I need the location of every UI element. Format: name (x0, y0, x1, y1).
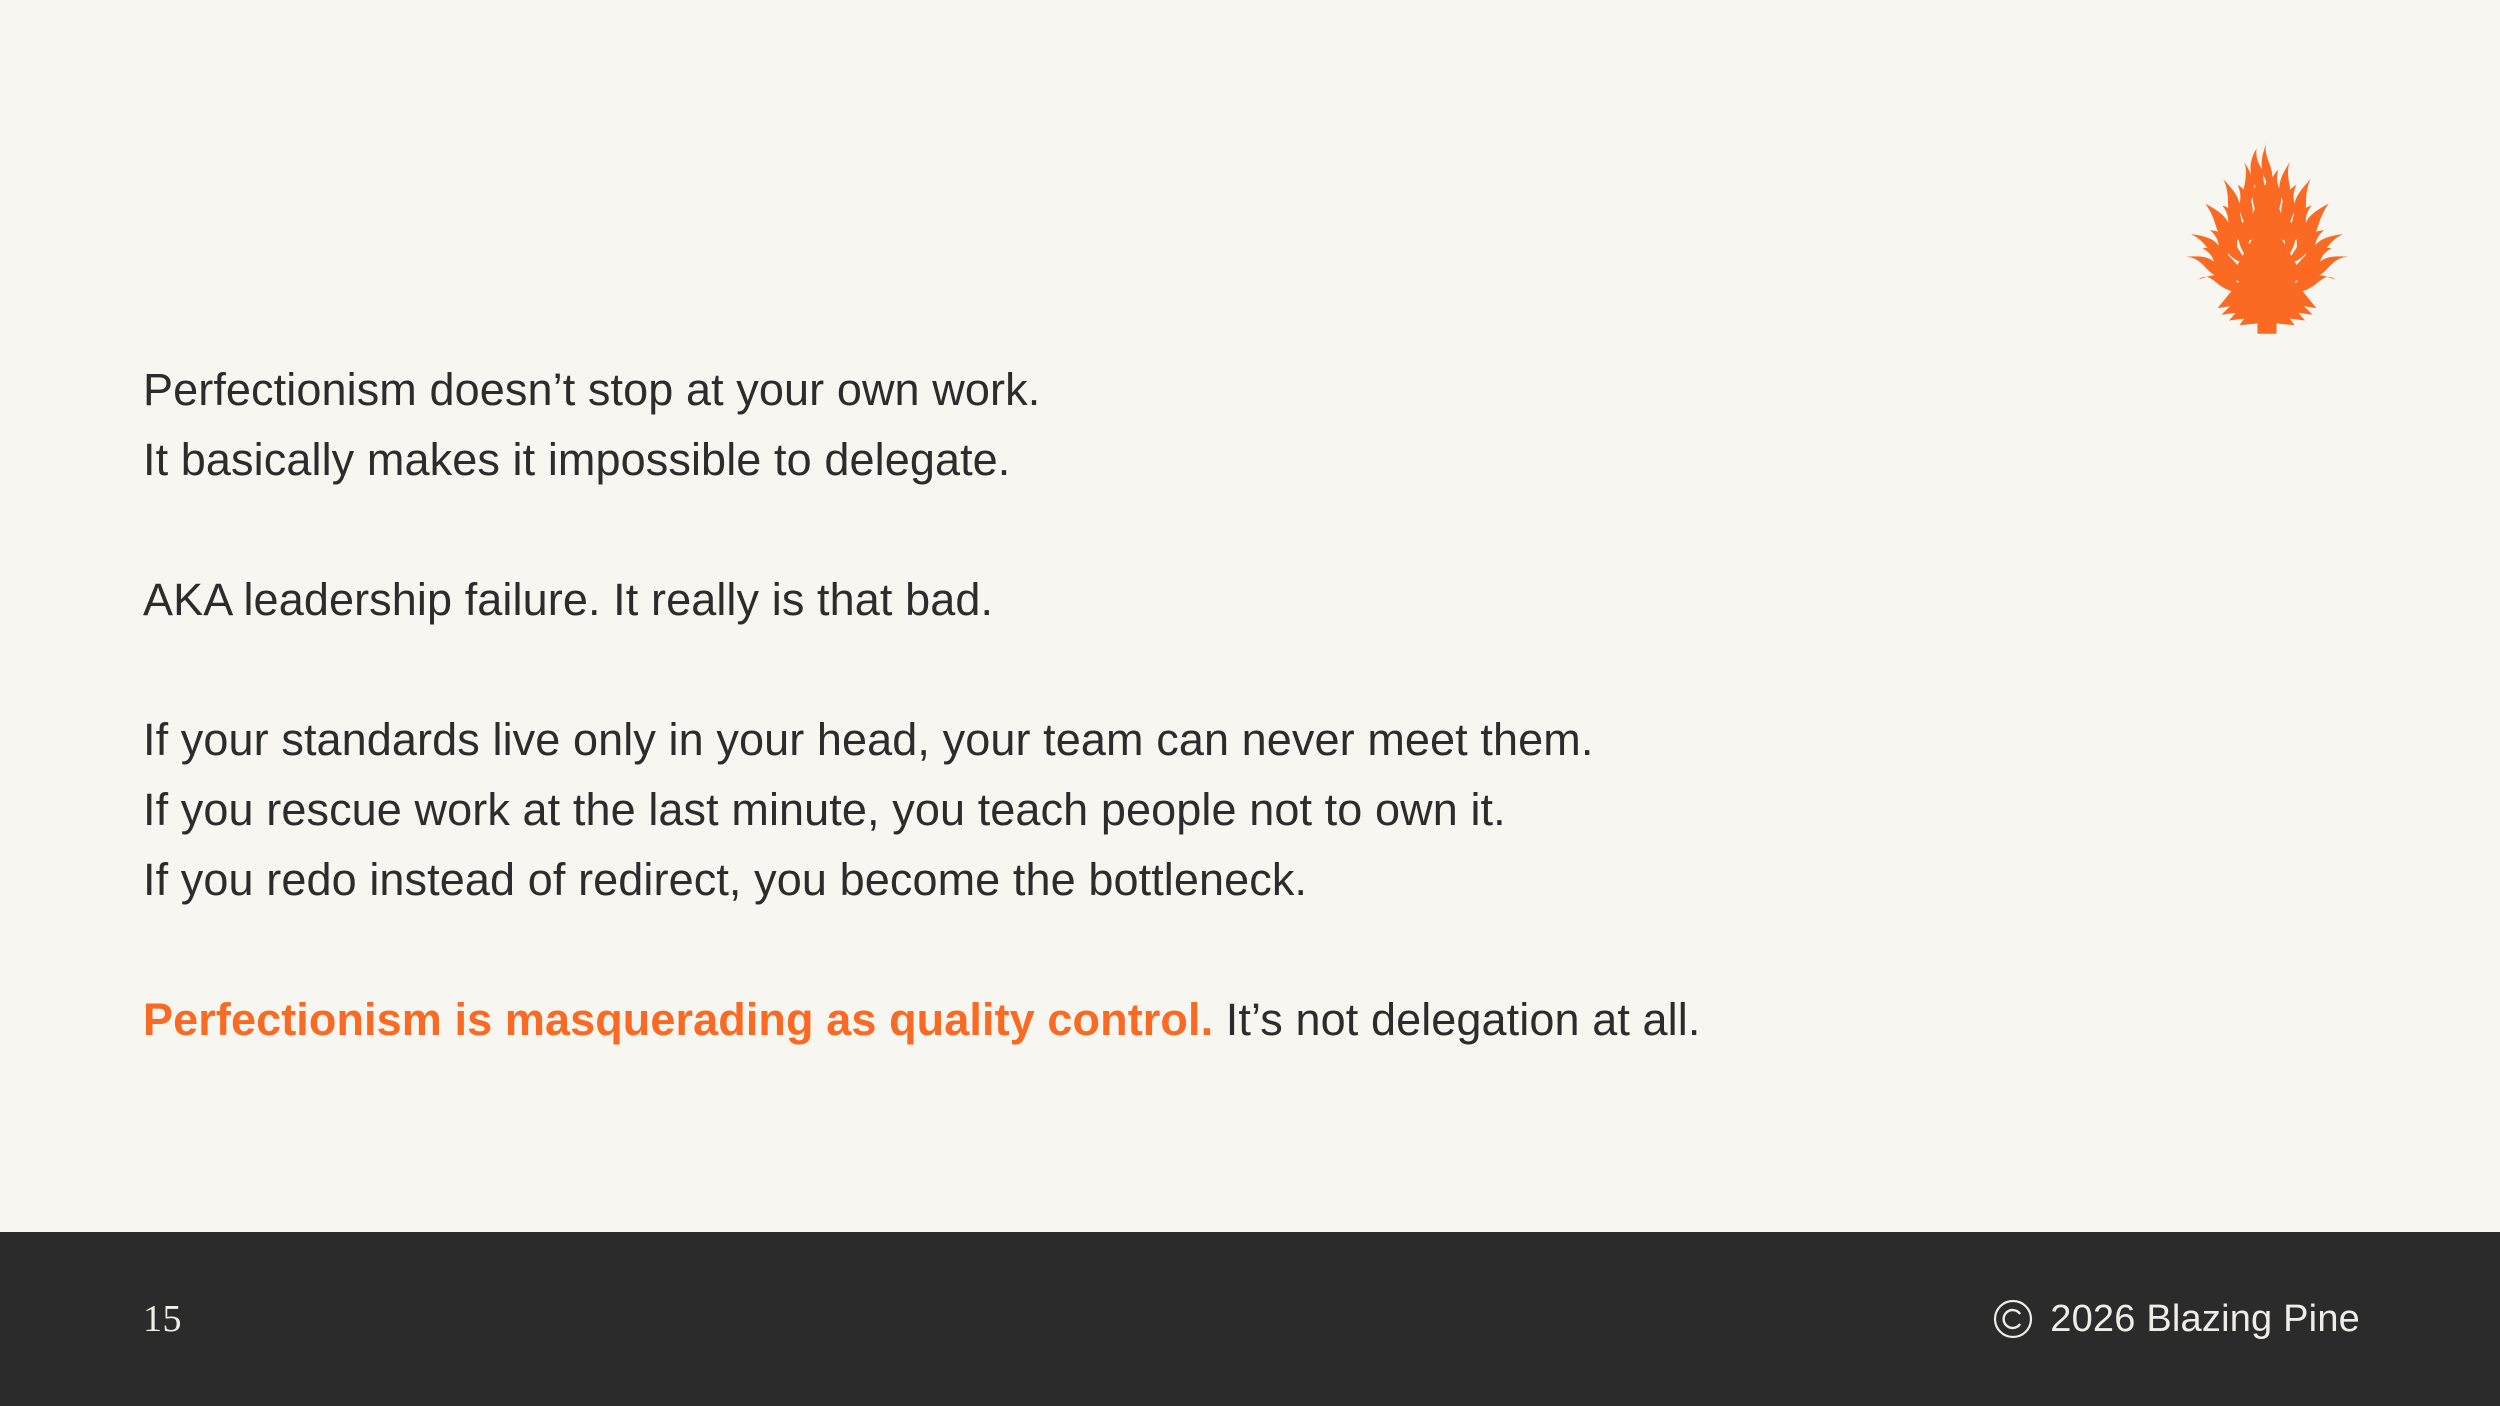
slide: Perfectionism doesn’t stop at your own w… (0, 0, 2500, 1406)
paragraph-3: If your standards live only in your head… (143, 705, 2243, 915)
closing-highlight: Perfectionism is masquerading as quality… (143, 994, 1213, 1045)
blazing-pine-logo (2172, 135, 2362, 335)
paragraph-1: Perfectionism doesn’t stop at your own w… (143, 355, 2243, 495)
closing-line: Perfectionism is masquerading as quality… (143, 985, 2243, 1055)
copyright-block: 2026 Blazing Pine (1992, 1298, 2360, 1340)
body-line: If you redo instead of redirect, you bec… (143, 845, 2243, 915)
body-line: If your standards live only in your head… (143, 705, 2243, 775)
copyright-text: 2026 Blazing Pine (2050, 1300, 2360, 1338)
slide-footer: 15 2026 Blazing Pine (0, 1232, 2500, 1406)
slide-body: Perfectionism doesn’t stop at your own w… (143, 355, 2243, 1055)
page-number: 15 (143, 1300, 182, 1338)
body-line: It basically makes it impossible to dele… (143, 425, 2243, 495)
paragraph-2: AKA leadership failure. It really is tha… (143, 565, 2243, 635)
closing-remainder: It’s not delegation at all. (1213, 994, 1700, 1045)
copyright-icon (1992, 1298, 2034, 1340)
body-line: AKA leadership failure. It really is tha… (143, 565, 2243, 635)
body-line: If you rescue work at the last minute, y… (143, 775, 2243, 845)
body-line: Perfectionism doesn’t stop at your own w… (143, 355, 2243, 425)
closing-statement: Perfectionism is masquerading as quality… (143, 985, 2243, 1055)
